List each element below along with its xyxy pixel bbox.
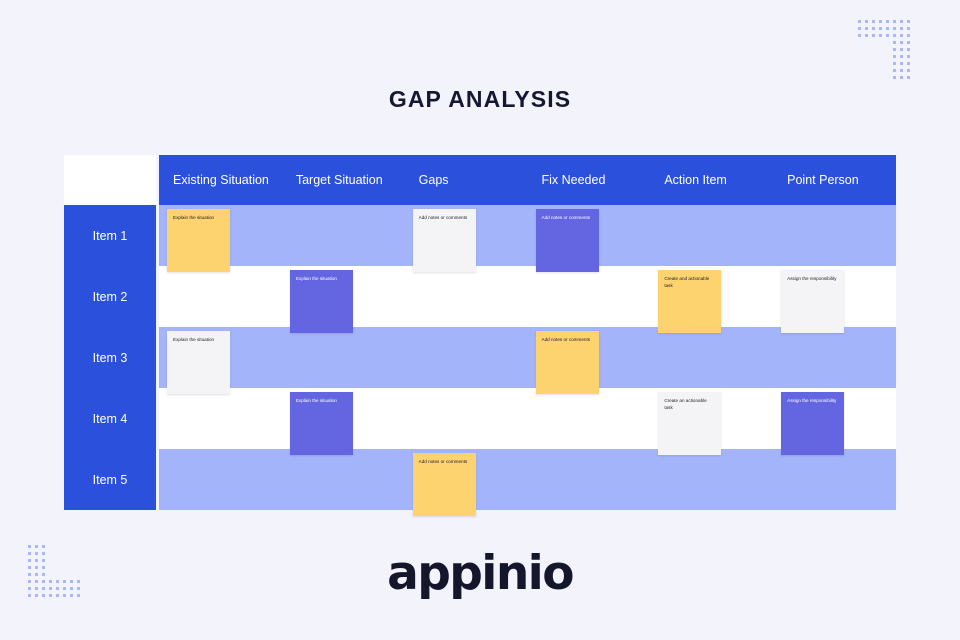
- dot: [907, 41, 910, 44]
- dot: [865, 27, 868, 30]
- dot: [865, 34, 868, 37]
- matrix-grid-area: Existing SituationTarget SituationGapsFi…: [159, 155, 896, 510]
- dot: [879, 76, 882, 79]
- dot: [893, 48, 896, 51]
- dot: [886, 69, 889, 72]
- dot: [858, 69, 861, 72]
- dot: [900, 20, 903, 23]
- dot: [858, 27, 861, 30]
- dot: [879, 20, 882, 23]
- dot: [879, 41, 882, 44]
- column-header-existing_situation: Existing Situation: [159, 155, 282, 205]
- dot: [865, 41, 868, 44]
- sticky-note[interactable]: Create and actionable task: [658, 270, 721, 333]
- sticky-note[interactable]: Add notes or comments: [413, 209, 476, 272]
- sticky-note[interactable]: Create an actionable task: [658, 392, 721, 455]
- matrix-corner-cell: [64, 155, 156, 205]
- sticky-note[interactable]: Assign the responsibility: [781, 392, 844, 455]
- dot: [872, 20, 875, 23]
- sticky-note[interactable]: Assign the responsibility: [781, 270, 844, 333]
- dot: [893, 34, 896, 37]
- column-header-target_situation: Target Situation: [282, 155, 405, 205]
- dot: [893, 55, 896, 58]
- matrix-row: [159, 327, 896, 388]
- matrix-row: [159, 205, 896, 266]
- dot: [858, 76, 861, 79]
- dot: [879, 69, 882, 72]
- dot: [872, 48, 875, 51]
- dot: [900, 55, 903, 58]
- sticky-note[interactable]: Add notes or comments: [536, 209, 599, 272]
- matrix-row-label: Item 2: [64, 266, 156, 327]
- dot: [886, 41, 889, 44]
- dot: [886, 20, 889, 23]
- dot: [900, 48, 903, 51]
- dot: [900, 27, 903, 30]
- dot: [893, 62, 896, 65]
- dot: [907, 62, 910, 65]
- dot: [872, 55, 875, 58]
- sticky-note[interactable]: Explain the situation: [290, 392, 353, 455]
- dot: [886, 48, 889, 51]
- dot: [893, 41, 896, 44]
- dot: [865, 69, 868, 72]
- dot: [907, 34, 910, 37]
- sticky-note[interactable]: Add notes or comments: [413, 453, 476, 516]
- matrix-row: [159, 449, 896, 510]
- dot: [886, 55, 889, 58]
- dot: [900, 34, 903, 37]
- matrix-row-label: Item 1: [64, 205, 156, 266]
- dot: [886, 76, 889, 79]
- dot: [872, 34, 875, 37]
- dot: [893, 20, 896, 23]
- sticky-note[interactable]: Add notes or comments: [536, 331, 599, 394]
- dot: [865, 20, 868, 23]
- dot: [872, 41, 875, 44]
- dot: [907, 76, 910, 79]
- dot: [907, 27, 910, 30]
- dot: [872, 62, 875, 65]
- sticky-note[interactable]: Explain the situation: [167, 209, 230, 272]
- dot: [886, 62, 889, 65]
- dot: [858, 55, 861, 58]
- dot: [886, 34, 889, 37]
- dot: [900, 62, 903, 65]
- dot: [886, 27, 889, 30]
- matrix-row-label: Item 5: [64, 449, 156, 510]
- dot: [865, 76, 868, 79]
- row-label-column: Item 1Item 2Item 3Item 4Item 5: [64, 155, 156, 510]
- dot: [858, 20, 861, 23]
- dot: [865, 48, 868, 51]
- dot: [865, 55, 868, 58]
- dot: [858, 48, 861, 51]
- dot: [872, 27, 875, 30]
- matrix-row-label: Item 3: [64, 327, 156, 388]
- dot: [900, 41, 903, 44]
- column-header-row: Existing SituationTarget SituationGapsFi…: [159, 155, 896, 205]
- dot: [865, 62, 868, 65]
- column-header-point_person: Point Person: [773, 155, 896, 205]
- dot: [879, 62, 882, 65]
- decorative-dot-pattern-top-right: [858, 20, 910, 79]
- dot: [907, 55, 910, 58]
- dot: [893, 27, 896, 30]
- dot: [907, 48, 910, 51]
- dot: [893, 69, 896, 72]
- dot: [872, 69, 875, 72]
- dot: [893, 76, 896, 79]
- dot: [858, 34, 861, 37]
- dot: [858, 41, 861, 44]
- dot: [879, 34, 882, 37]
- gap-analysis-matrix: Item 1Item 2Item 3Item 4Item 5 Existing …: [64, 155, 896, 510]
- sticky-note[interactable]: Explain the situation: [167, 331, 230, 394]
- dot: [879, 55, 882, 58]
- sticky-note[interactable]: Explain the situation: [290, 270, 353, 333]
- column-header-gaps: Gaps: [405, 155, 528, 205]
- matrix-row-label: Item 4: [64, 388, 156, 449]
- dot: [858, 62, 861, 65]
- column-header-action_item: Action Item: [650, 155, 773, 205]
- dot: [900, 76, 903, 79]
- page-title: GAP ANALYSIS: [0, 86, 960, 113]
- column-header-fix_needed: Fix Needed: [527, 155, 650, 205]
- appinio-logo: appinio: [0, 546, 960, 601]
- dot: [907, 69, 910, 72]
- dot: [872, 76, 875, 79]
- dot: [907, 20, 910, 23]
- dot: [879, 48, 882, 51]
- dot: [900, 69, 903, 72]
- dot: [879, 27, 882, 30]
